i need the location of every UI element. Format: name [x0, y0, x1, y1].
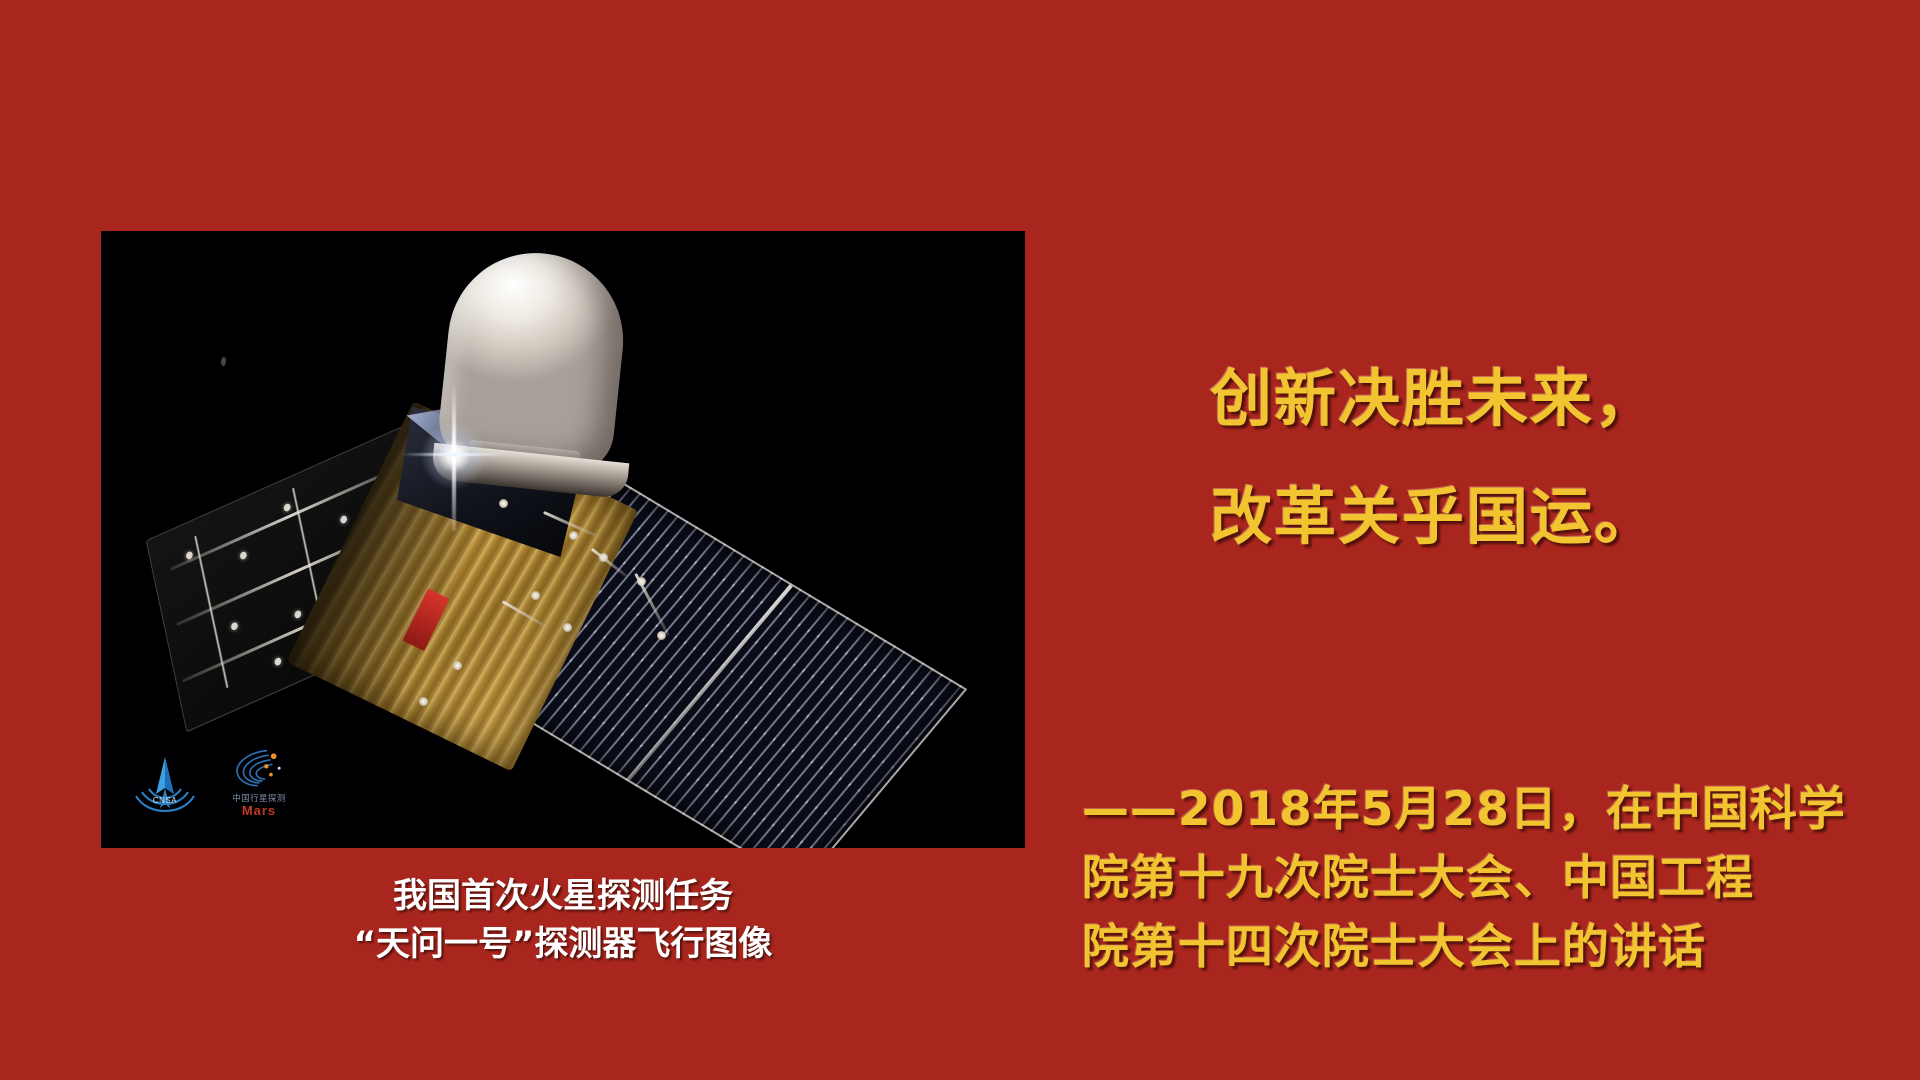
cnsa-logo-label: CNSA — [129, 796, 201, 805]
quote-column: 创新决胜未来， 改革关乎国运。 ——2018年5月28日，在中国科学 院第十九次… — [1060, 0, 1920, 1080]
spacecraft-photo: CNSA 中国行星探测 — [101, 231, 1025, 848]
photo-caption: 我国首次火星探测任务 “天问一号”探测器飞行图像 — [101, 872, 1025, 969]
quote-headline: 创新决胜未来， 改革关乎国运。 — [1060, 340, 1920, 576]
quote-headline-line-2: 改革关乎国运。 — [1060, 458, 1920, 576]
flare-spike-horizontal — [401, 453, 511, 456]
photo-caption-line-2: “天问一号”探测器飞行图像 — [101, 920, 1025, 968]
quote-attribution-line-1: ——2018年5月28日，在中国科学 — [1082, 775, 1920, 844]
photo-frame: CNSA 中国行星探测 — [101, 231, 1025, 848]
quote-headline-line-1: 创新决胜未来， — [1060, 340, 1920, 458]
quote-attribution-line-3: 院第十四次院士大会上的讲话 — [1082, 913, 1920, 982]
quote-attribution: ——2018年5月28日，在中国科学 院第十九次院士大会、中国工程 院第十四次院… — [1082, 775, 1920, 982]
photo-caption-line-1: 我国首次火星探测任务 — [101, 872, 1025, 920]
mission-logos: CNSA 中国行星探测 — [129, 748, 295, 824]
mars-logo-label-en: Mars — [223, 803, 295, 818]
cnsa-logo: CNSA — [129, 752, 201, 824]
flare-spike-vertical — [452, 381, 456, 531]
quote-attribution-line-2: 院第十九次院士大会、中国工程 — [1082, 844, 1920, 913]
solar-array-seam — [627, 585, 793, 781]
china-mars-exploration-logo: 中国行星探测 Mars — [223, 748, 295, 824]
slide-root: CNSA 中国行星探测 — [0, 0, 1920, 1080]
aeroshell-port-icon — [221, 357, 227, 366]
